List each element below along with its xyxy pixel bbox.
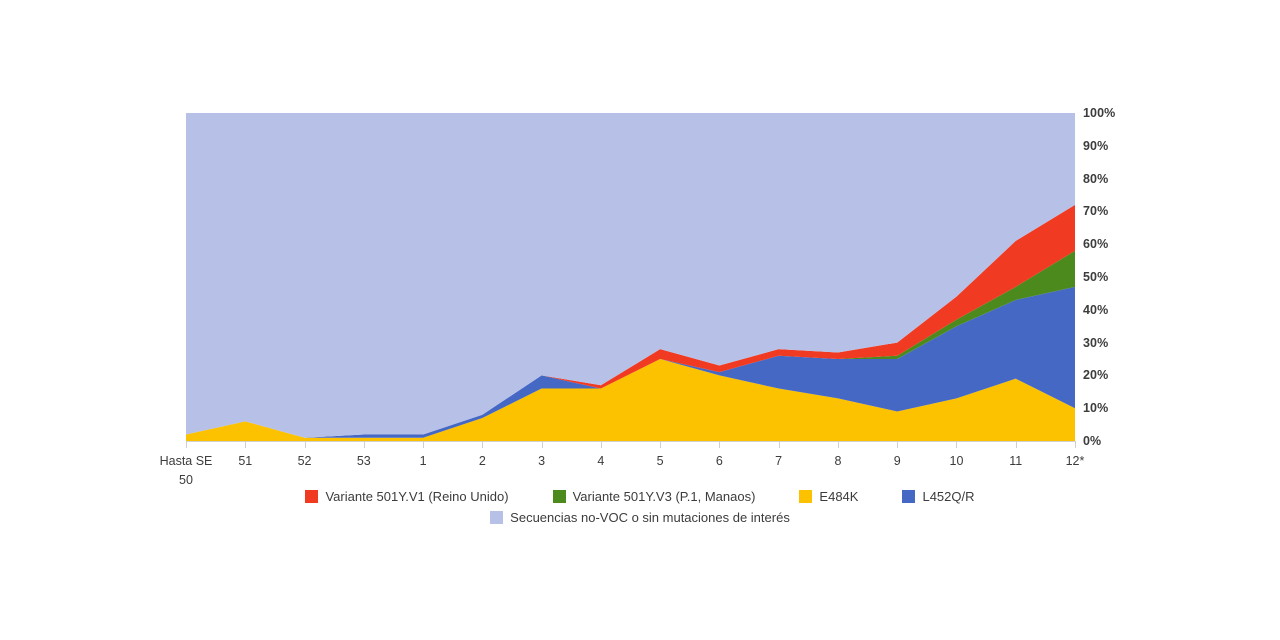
legend-row-secondary: Secuencias no-VOC o sin mutaciones de in… (0, 510, 1280, 525)
x-axis-tickmark (779, 441, 780, 448)
x-axis-tickmark (601, 441, 602, 448)
stacked-area-chart-figure: 0%10%20%30%40%50%60%70%80%90%100% Hasta … (0, 0, 1280, 640)
x-axis-tickmark (838, 441, 839, 448)
x-axis-tickmark (482, 441, 483, 448)
legend-item-label: Secuencias no-VOC o sin mutaciones de in… (510, 510, 790, 525)
x-axis-tick-label: 2 (479, 452, 486, 471)
x-axis-tickmark (1016, 441, 1017, 448)
x-axis-tickmark (364, 441, 365, 448)
x-axis-tick-label: 8 (834, 452, 841, 471)
y-axis-tick-label: 100% (1083, 106, 1115, 120)
legend-item-label: E484K (819, 489, 858, 504)
legend-row-primary: Variante 501Y.V1 (Reino Unido)Variante 5… (0, 489, 1280, 504)
plot-area (186, 113, 1075, 441)
x-axis-tick-label: 11 (1009, 452, 1022, 471)
legend-item[interactable]: Secuencias no-VOC o sin mutaciones de in… (490, 510, 790, 525)
x-axis-tick-label: 9 (894, 452, 901, 471)
y-axis: 0%10%20%30%40%50%60%70%80%90%100% (1083, 0, 1153, 640)
x-axis-tick-label: 12* (1066, 452, 1085, 471)
x-axis-line (186, 441, 1075, 442)
x-axis-tickmark (423, 441, 424, 448)
legend-item[interactable]: Variante 501Y.V3 (P.1, Manaos) (553, 489, 756, 504)
x-axis-tick-label: 1 (420, 452, 427, 471)
legend-color-swatch-icon (305, 490, 318, 503)
x-axis-tickmark (305, 441, 306, 448)
y-axis-tick-label: 70% (1083, 204, 1108, 218)
x-axis: Hasta SE 50515253123456789101112* (0, 441, 1280, 491)
x-axis-tickmark (719, 441, 720, 448)
y-axis-tick-label: 80% (1083, 172, 1108, 186)
x-axis-tickmark (186, 441, 187, 448)
x-axis-tickmark (897, 441, 898, 448)
y-axis-tick-label: 10% (1083, 401, 1108, 415)
legend-item-label: Variante 501Y.V1 (Reino Unido) (325, 489, 508, 504)
legend-item[interactable]: Variante 501Y.V1 (Reino Unido) (305, 489, 508, 504)
x-axis-tick-label: 3 (538, 452, 545, 471)
y-axis-tick-label: 20% (1083, 368, 1108, 382)
legend-color-swatch-icon (799, 490, 812, 503)
legend-color-swatch-icon (902, 490, 915, 503)
legend-item-label: Variante 501Y.V3 (P.1, Manaos) (573, 489, 756, 504)
y-axis-tick-label: 50% (1083, 270, 1108, 284)
legend-item[interactable]: L452Q/R (902, 489, 974, 504)
x-axis-tickmark (660, 441, 661, 448)
y-axis-tick-label: 60% (1083, 237, 1108, 251)
y-axis-tick-label: 30% (1083, 336, 1108, 350)
x-axis-tick-label: 4 (597, 452, 604, 471)
x-axis-tick-label: 6 (716, 452, 723, 471)
x-axis-tick-label: 7 (775, 452, 782, 471)
chart-legend: Variante 501Y.V1 (Reino Unido)Variante 5… (0, 489, 1280, 525)
x-axis-tick-label: 51 (238, 452, 252, 471)
x-axis-tickmark (956, 441, 957, 448)
legend-color-swatch-icon (490, 511, 503, 524)
x-axis-tick-label: 52 (298, 452, 312, 471)
legend-item[interactable]: E484K (799, 489, 858, 504)
x-axis-tickmark (542, 441, 543, 448)
x-axis-tick-label: 53 (357, 452, 371, 471)
x-axis-tickmark (245, 441, 246, 448)
y-axis-tick-label: 0% (1083, 434, 1101, 448)
legend-item-label: L452Q/R (922, 489, 974, 504)
x-axis-tick-label: 5 (657, 452, 664, 471)
y-axis-tick-label: 90% (1083, 139, 1108, 153)
x-axis-tick-label: Hasta SE 50 (160, 452, 213, 490)
legend-color-swatch-icon (553, 490, 566, 503)
chart-canvas (186, 113, 1075, 441)
x-axis-tickmark (1075, 441, 1076, 448)
y-axis-tick-label: 40% (1083, 303, 1108, 317)
x-axis-tick-label: 10 (950, 452, 964, 471)
